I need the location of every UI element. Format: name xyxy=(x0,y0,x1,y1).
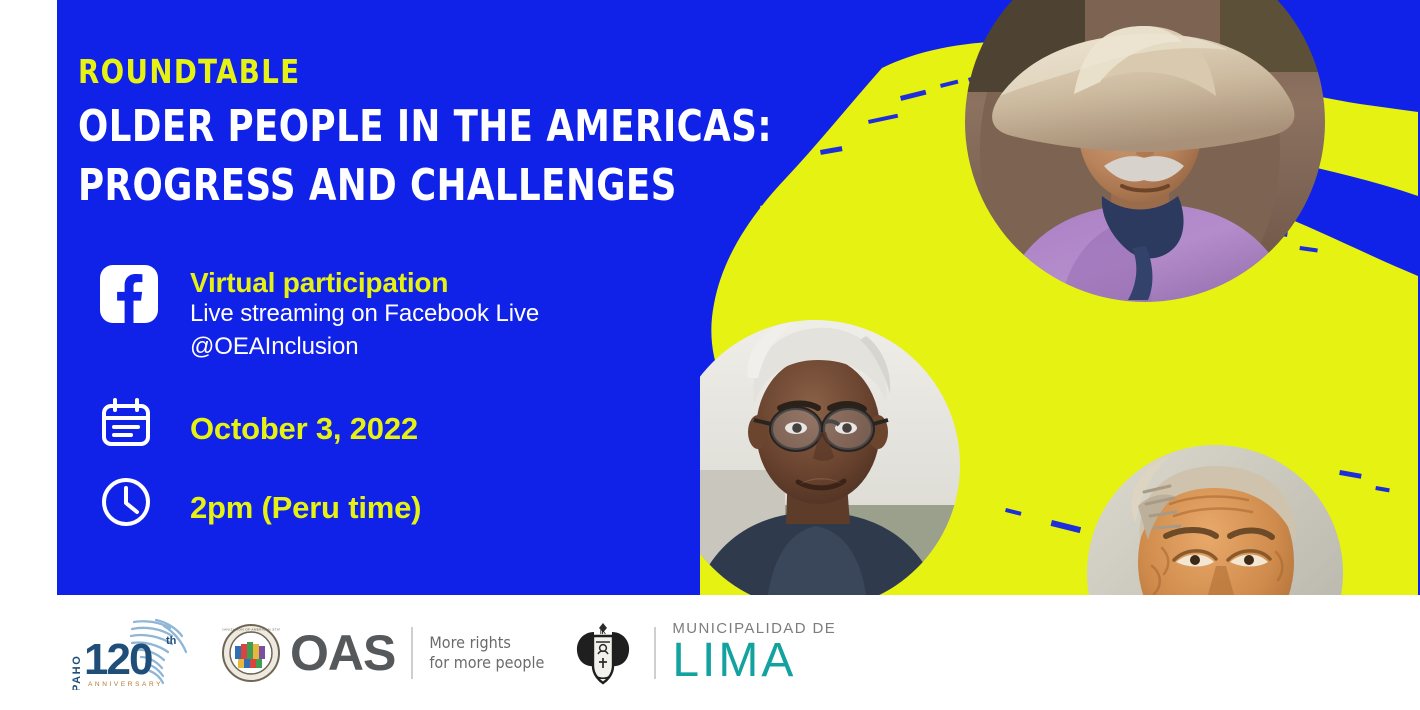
svg-text:th: th xyxy=(166,635,177,647)
calendar-icon xyxy=(100,397,156,457)
event-time: 2pm (Peru time) xyxy=(190,492,421,523)
title-line-2: PROGRESS AND CHALLENGES xyxy=(78,157,726,216)
event-date: October 3, 2022 xyxy=(190,413,418,444)
detail-row-virtual-participation: Virtual participation Live streaming on … xyxy=(100,265,720,383)
svg-text:120: 120 xyxy=(84,635,152,684)
lima-divider xyxy=(654,627,656,679)
oas-tagline-line-2: for more people xyxy=(429,653,544,673)
oas-wordmark: OAS xyxy=(290,624,395,682)
virtual-participation-text: Virtual participation Live streaming on … xyxy=(190,265,539,363)
title-line-1: OLDER PEOPLE IN THE AMERICAS: xyxy=(78,98,726,157)
logo-lima-wordmark: MUNICIPALIDAD DE LIMA xyxy=(672,620,836,684)
oas-tagline: More rights for more people xyxy=(429,633,544,672)
oas-seal-icon: ORGANIZATION OF AMERICAN STATES xyxy=(222,624,280,682)
oas-divider xyxy=(411,627,413,679)
paho-wordmark: PAHO xyxy=(71,654,83,689)
detail-row-time: 2pm (Peru time) xyxy=(100,471,720,541)
logo-paho: PAHO 120 th ANNIVERSARY xyxy=(62,616,190,690)
virtual-participation-line-1: Live streaming on Facebook Live xyxy=(190,298,539,330)
detail-row-date: October 3, 2022 xyxy=(100,383,720,471)
lima-shield-monogram: IK xyxy=(600,630,607,636)
logo-oas: ORGANIZATION OF AMERICAN STATES OAS More… xyxy=(222,624,544,682)
clock-icon xyxy=(100,476,156,536)
virtual-participation-handle: @OEAInclusion xyxy=(190,331,539,363)
time-text: 2pm (Peru time) xyxy=(190,490,421,523)
oas-tagline-line-1: More rights xyxy=(429,633,544,653)
event-details: Virtual participation Live streaming on … xyxy=(100,265,720,541)
logo-lima-shield: IK xyxy=(572,620,634,686)
lima-big-text: LIMA xyxy=(672,637,836,684)
svg-text:ANNIVERSARY: ANNIVERSARY xyxy=(88,681,163,688)
kicker-label: ROUNDTABLE xyxy=(78,52,300,91)
logo-bar: PAHO 120 th ANNIVERSARY xyxy=(0,595,1420,710)
text-content: ROUNDTABLE OLDER PEOPLE IN THE AMERICAS:… xyxy=(0,0,800,595)
svg-text:ORGANIZATION OF AMERICAN STATE: ORGANIZATION OF AMERICAN STATES xyxy=(222,627,280,631)
virtual-participation-heading: Virtual participation xyxy=(190,267,539,298)
event-banner: ROUNDTABLE OLDER PEOPLE IN THE AMERICAS:… xyxy=(0,0,1420,710)
facebook-icon[interactable] xyxy=(100,265,160,325)
date-text: October 3, 2022 xyxy=(190,411,418,444)
page-title: OLDER PEOPLE IN THE AMERICAS: PROGRESS A… xyxy=(78,98,726,215)
